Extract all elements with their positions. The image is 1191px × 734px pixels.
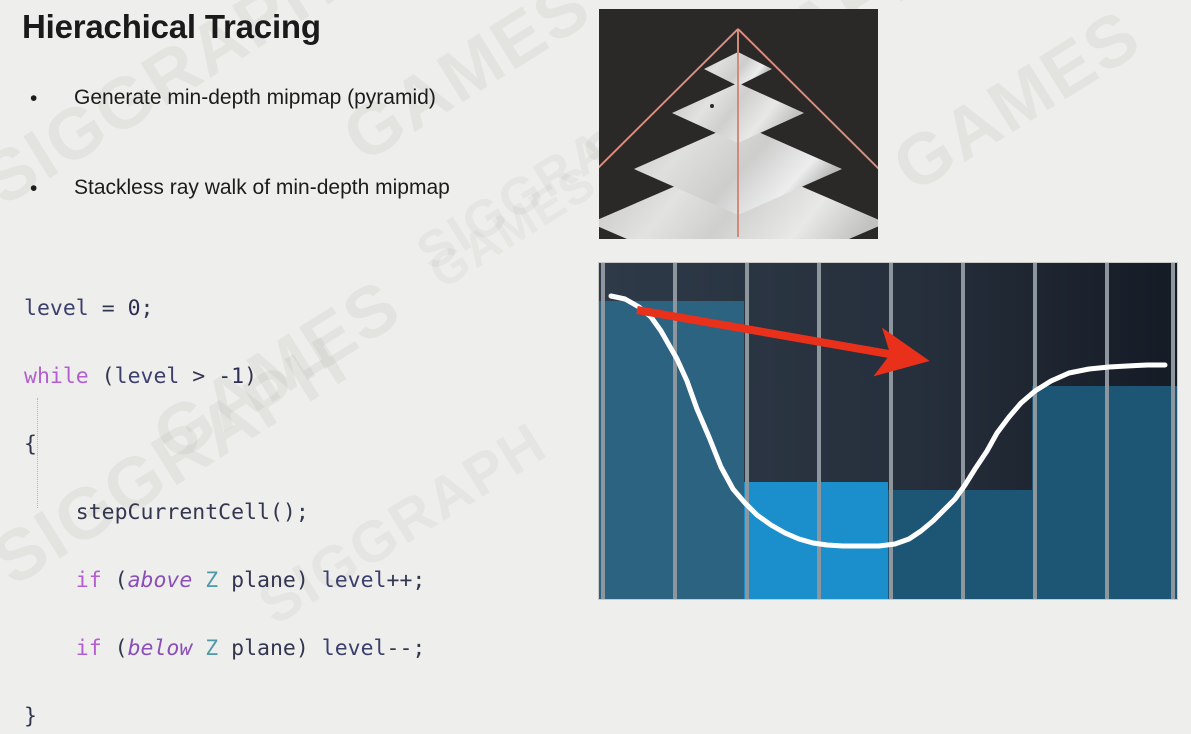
code-line: { [24, 428, 425, 462]
code-token: level [322, 568, 387, 593]
code-token: ( [102, 568, 128, 593]
code-line: if (above Z plane) level++; [24, 564, 425, 598]
code-token: (); [270, 500, 309, 525]
ray-walk-svg [599, 263, 1177, 599]
code-token: Z [205, 636, 218, 661]
watermark-text: GAMES [879, 0, 1155, 208]
bullet-marker-icon: • [30, 176, 37, 202]
code-token: 0 [128, 296, 141, 321]
code-token: if [76, 568, 102, 593]
code-line: level = 0; [24, 292, 425, 326]
ray-walk-figure [598, 262, 1178, 600]
cell-fill-4 [1032, 386, 1177, 599]
code-block: level = 0; while (level > -1) { stepCurr… [24, 292, 425, 734]
code-token [192, 636, 205, 661]
code-token: Z [205, 568, 218, 593]
code-token: ( [102, 636, 128, 661]
code-token: --; [387, 636, 426, 661]
code-token: level [24, 296, 89, 321]
cell-fill-3 [888, 490, 1032, 599]
code-token: = [102, 296, 115, 321]
code-token: ) [244, 364, 257, 389]
bullet-text: Stackless ray walk of min-depth mipmap [74, 176, 450, 199]
code-token: ; [141, 296, 154, 321]
code-token: ++; [387, 568, 426, 593]
pyramid-svg [599, 9, 878, 239]
pyramid-figure [599, 9, 878, 239]
code-line: stepCurrentCell(); [24, 496, 425, 530]
code-token [115, 296, 128, 321]
bullet-item: • Stackless ray walk of min-depth mipmap [22, 175, 582, 201]
code-token: if [76, 636, 102, 661]
bullet-item: • Generate min-depth mipmap (pyramid) [22, 85, 582, 111]
code-token: level [115, 364, 180, 389]
bullet-list: • Generate min-depth mipmap (pyramid) • … [22, 85, 582, 202]
slide-title: Hierachical Tracing [22, 8, 321, 46]
code-token [192, 568, 205, 593]
code-line: if (below Z plane) level--; [24, 632, 425, 666]
code-token [89, 296, 102, 321]
code-token: plane [218, 636, 296, 661]
bullet-marker-icon: • [30, 86, 37, 112]
code-token: below [128, 636, 193, 661]
detail-speck [710, 104, 714, 108]
code-token: level [322, 636, 387, 661]
code-token: ( [89, 364, 115, 389]
code-token [24, 568, 76, 593]
code-token: } [24, 704, 37, 729]
cell-fill-2 [744, 482, 888, 599]
code-token: ) [296, 636, 322, 661]
code-token [24, 636, 76, 661]
code-token: stepCurrentCell [24, 500, 270, 525]
code-token: -1 [218, 364, 244, 389]
code-line: } [24, 700, 425, 734]
code-token: while [24, 364, 89, 389]
bullet-text: Generate min-depth mipmap (pyramid) [74, 86, 436, 109]
code-token: above [128, 568, 193, 593]
code-token: plane [218, 568, 296, 593]
code-line: while (level > -1) [24, 360, 425, 394]
code-token: ) [296, 568, 322, 593]
code-token: { [24, 432, 37, 457]
code-token: > [179, 364, 218, 389]
